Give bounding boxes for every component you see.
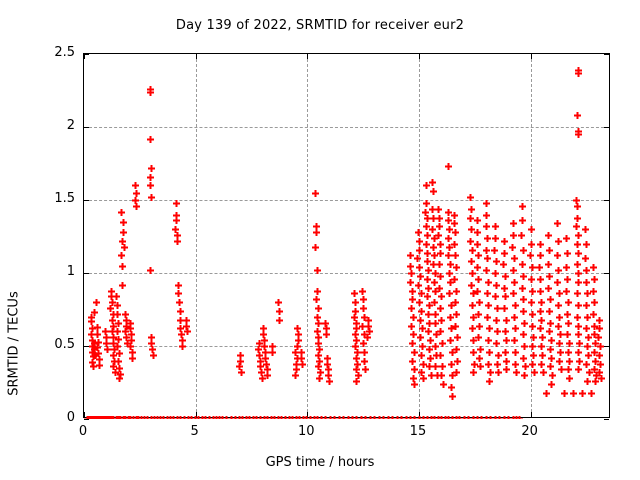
- y-axis-label: SRMTID / TECUs: [7, 244, 22, 444]
- data-points-layer: [84, 54, 611, 419]
- chart-title: Day 139 of 2022, SRMTID for receiver eur…: [0, 18, 640, 33]
- y-axis-tick: [604, 419, 609, 420]
- x-tick-label: 15: [398, 424, 438, 439]
- y-tick-label: 1.5: [29, 191, 75, 206]
- y-axis-label-wrap: SRMTID / TECUs: [0, 136, 22, 336]
- plot-frame: [83, 53, 610, 418]
- x-tick-label: 20: [510, 424, 550, 439]
- scatter-markers: [84, 54, 611, 419]
- x-axis-label: GPS time / hours: [0, 455, 640, 470]
- x-tick-label: 0: [63, 424, 103, 439]
- marker-path: [84, 67, 605, 419]
- x-tick-label: 5: [175, 424, 215, 439]
- y-tick-label: 1: [29, 264, 75, 279]
- y-axis-tick: [84, 419, 89, 420]
- y-tick-label: 2.5: [29, 45, 75, 60]
- chart-canvas: Day 139 of 2022, SRMTID for receiver eur…: [0, 0, 640, 480]
- x-tick-label: 10: [286, 424, 326, 439]
- series-SRMTID: [84, 67, 605, 419]
- y-tick-label: 0: [29, 410, 75, 425]
- y-tick-label: 2: [29, 118, 75, 133]
- y-tick-label: 0.5: [29, 337, 75, 352]
